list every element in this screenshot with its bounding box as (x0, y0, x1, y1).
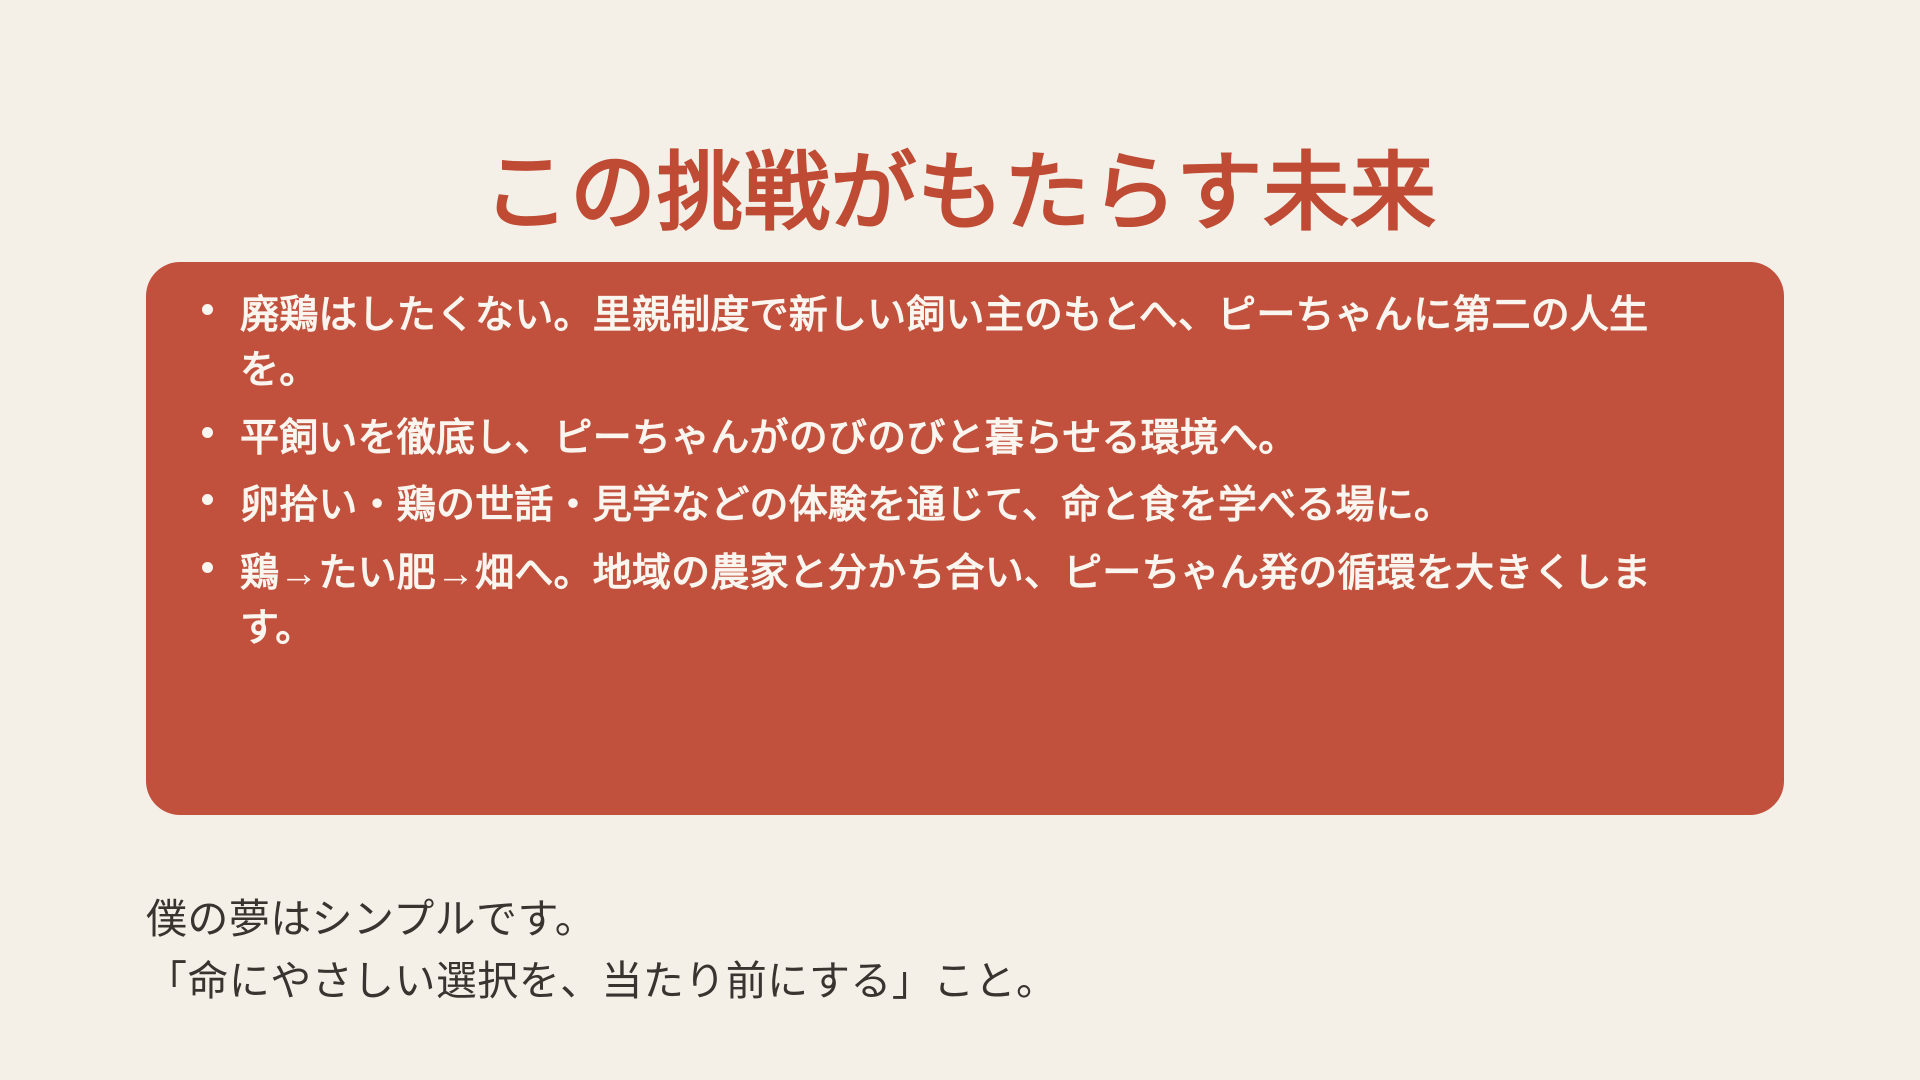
footer-line: 僕の夢はシンプルです。 (146, 888, 1646, 950)
bullet-dot-icon (202, 304, 213, 315)
list-item: 平飼いを徹底し、ピーちゃんがのびのびと暮らせる環境へ。 (194, 411, 1724, 466)
bullet-dot-icon (202, 427, 213, 438)
page-title: この挑戦がもたらす未来 (0, 146, 1920, 241)
highlight-card: 廃鶏はしたくない。里親制度で新しい飼い主のもとへ、ピーちゃんに第二の人生を。 平… (146, 262, 1784, 815)
list-item-text: 廃鶏はしたくない。里親制度で新しい飼い主のもとへ、ピーちゃんに第二の人生を。 (240, 294, 1648, 392)
slide-canvas: この挑戦がもたらす未来 廃鶏はしたくない。里親制度で新しい飼い主のもとへ、ピーち… (0, 0, 1920, 1080)
list-item-text: 卵拾い・鶏の世話・見学などの体験を通じて、命と食を学べる場に。 (240, 484, 1453, 527)
bullet-dot-icon (202, 494, 213, 505)
bullet-list: 廃鶏はしたくない。里親制度で新しい飼い主のもとへ、ピーちゃんに第二の人生を。 平… (194, 288, 1724, 656)
bullet-dot-icon (202, 562, 213, 573)
list-item: 鶏→たい肥→畑へ。地域の農家と分かち合い、ピーちゃん発の循環を大きくします。 (194, 546, 1724, 657)
list-item: 卵拾い・鶏の世話・見学などの体験を通じて、命と食を学べる場に。 (194, 478, 1724, 533)
footer-text: 僕の夢はシンプルです。 「命にやさしい選択を、当たり前にする」こと。 (146, 888, 1646, 1013)
list-item-text: 平飼いを徹底し、ピーちゃんがのびのびと暮らせる環境へ。 (240, 417, 1298, 460)
list-item: 廃鶏はしたくない。里親制度で新しい飼い主のもとへ、ピーちゃんに第二の人生を。 (194, 288, 1724, 399)
list-item-text: 鶏→たい肥→畑へ。地域の農家と分かち合い、ピーちゃん発の循環を大きくします。 (240, 552, 1651, 650)
footer-line: 「命にやさしい選択を、当たり前にする」こと。 (146, 950, 1646, 1012)
